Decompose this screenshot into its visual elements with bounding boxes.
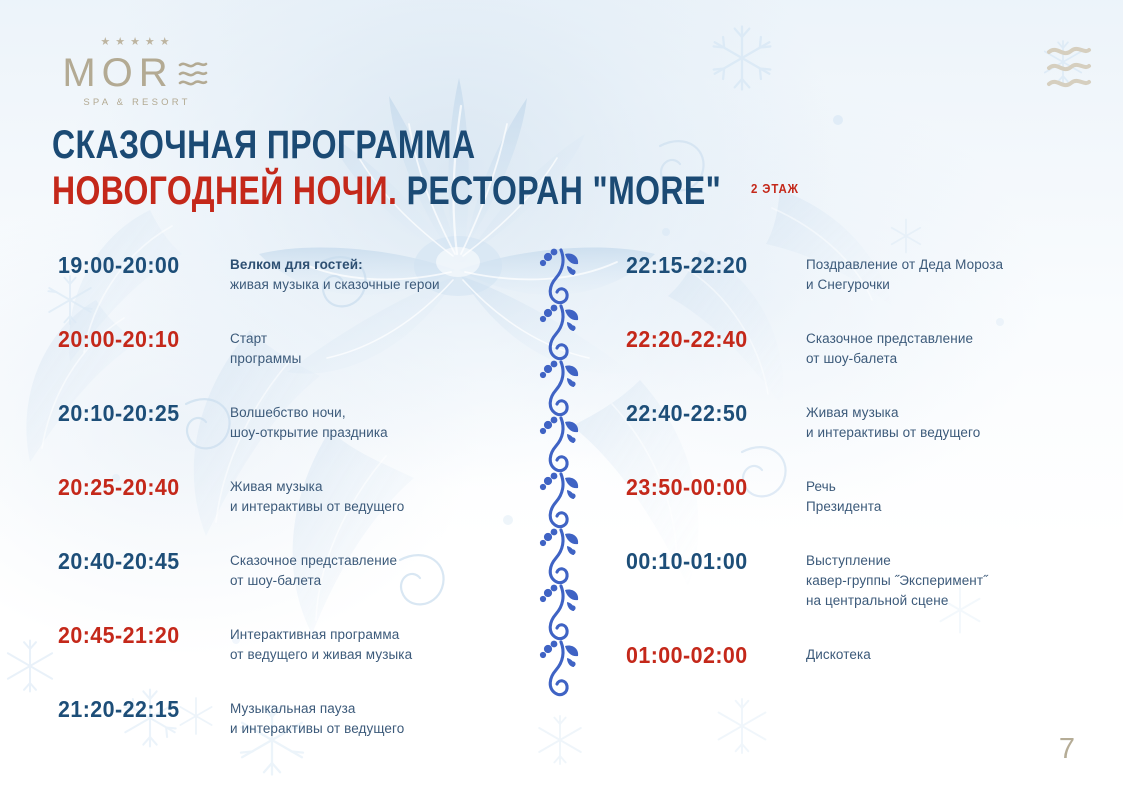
schedule-description-line: Интерактивная программа	[230, 625, 488, 645]
schedule-time: 20:00-20:10	[58, 326, 218, 352]
schedule-description-line: на центральной сцене	[806, 591, 1066, 611]
floor-badge: 2 ЭТАЖ	[751, 181, 799, 196]
schedule-time: 22:20-22:40	[626, 326, 793, 352]
schedule-time: 23:50-00:00	[626, 474, 793, 500]
wave-lines-icon	[1045, 42, 1093, 94]
schedule-description-line: Живая музыка	[806, 403, 1066, 423]
schedule-row: 20:45-21:20Интерактивная программаот вед…	[58, 622, 488, 665]
schedule-description-line: Старт	[230, 329, 488, 349]
title-line-2-blue: РЕСТОРАН "MORE"	[407, 169, 722, 213]
schedule-description-line: Музыкальная пауза	[230, 699, 488, 719]
schedule-row: 20:25-20:40Живая музыкаи интерактивы от …	[58, 474, 488, 517]
schedule-description-line: Речь	[806, 477, 1066, 497]
schedule-description: Сказочное представлениеот шоу-балета	[806, 326, 1066, 369]
wave-lines-icon	[178, 58, 208, 90]
title-line-2-red: НОВОГОДНЕЙ НОЧИ.	[52, 169, 397, 213]
schedule-description: Дискотека	[806, 642, 1066, 665]
schedule-description: Стартпрограммы	[230, 326, 488, 369]
schedule-description: Выступлениекавер-группы ˝Эксперимент˝на …	[806, 548, 1066, 611]
logo-wordmark: MOR	[62, 51, 173, 95]
schedule-description: Живая музыкаи интерактивы от ведущего	[806, 400, 1066, 443]
schedule-row: 23:50-00:00РечьПрезидента	[626, 474, 1066, 517]
schedule-description: РечьПрезидента	[806, 474, 1066, 517]
schedule-time: 00:10-01:00	[626, 548, 793, 574]
schedule-time: 22:15-22:20	[626, 252, 793, 278]
schedule-row: 19:00-20:00Велком для гостей:живая музык…	[58, 252, 488, 295]
schedule-description-line: программы	[230, 349, 488, 369]
schedule-row: 22:15-22:20Поздравление от Деда Морозаи …	[626, 252, 1066, 295]
schedule-row: 01:00-02:00Дискотека	[626, 642, 1066, 668]
schedule-description-line: Сказочное представление	[806, 329, 1066, 349]
schedule-description-line: Дискотека	[806, 645, 1066, 665]
gzhel-ornament-icon	[539, 248, 585, 700]
schedule-description-line: и интерактивы от ведущего	[230, 719, 488, 739]
schedule-description: Интерактивная программаот ведущего и жив…	[230, 622, 488, 665]
schedule-time: 20:40-20:45	[58, 548, 218, 574]
schedule-description-line: живая музыка и сказочные герои	[230, 275, 488, 295]
schedule-description: Велком для гостей:живая музыка и сказочн…	[230, 252, 488, 295]
floral-divider-ornament	[539, 248, 585, 700]
schedule-row: 22:40-22:50Живая музыкаи интерактивы от …	[626, 400, 1066, 443]
schedule-time: 20:45-21:20	[58, 622, 218, 648]
schedule-description-line: от ведущего и живая музыка	[230, 645, 488, 665]
schedule-description-line: Сказочное представление	[230, 551, 488, 571]
schedule-description: Поздравление от Деда Морозаи Снегурочки	[806, 252, 1066, 295]
schedule-description-line: и интерактивы от ведущего	[806, 423, 1066, 443]
schedule-right-column: 22:15-22:20Поздравление от Деда Морозаи …	[626, 252, 1066, 699]
schedule-description-line: кавер-группы ˝Эксперимент˝	[806, 571, 1066, 591]
title-line-2: НОВОГОДНЕЙ НОЧИ. РЕСТОРАН "MORE"	[52, 168, 708, 214]
schedule-description-line: Велком для гостей:	[230, 255, 488, 275]
page-number: 7	[1059, 733, 1076, 766]
schedule-description: Сказочное представлениеот шоу-балета	[230, 548, 488, 591]
schedule-description-line: от шоу-балета	[806, 349, 1066, 369]
schedule-row: 00:10-01:00Выступлениекавер-группы ˝Эксп…	[626, 548, 1066, 611]
schedule-time: 01:00-02:00	[626, 642, 793, 668]
schedule-description-line: Поздравление от Деда Мороза	[806, 255, 1066, 275]
title-line-1: СКАЗОЧНАЯ ПРОГРАММА	[52, 122, 708, 168]
schedule-description-line: и интерактивы от ведущего	[230, 497, 488, 517]
schedule-left-column: 19:00-20:00Велком для гостей:живая музык…	[58, 252, 488, 770]
logo-stars: ★★★★★	[60, 36, 210, 48]
schedule-row: 20:00-20:10Стартпрограммы	[58, 326, 488, 369]
schedule-description-line: от шоу-балета	[230, 571, 488, 591]
schedule-description-line: шоу-открытие праздника	[230, 423, 488, 443]
corner-wave-mark	[1045, 42, 1093, 99]
schedule-time: 21:20-22:15	[58, 696, 218, 722]
schedule-description-line: Выступление	[806, 551, 1066, 571]
schedule-time: 19:00-20:00	[58, 252, 218, 278]
schedule-description-line: Волшебство ночи,	[230, 403, 488, 423]
logo-mark: MOR	[60, 51, 210, 95]
schedule-description-line: Живая музыка	[230, 477, 488, 497]
schedule-row: 21:20-22:15Музыкальная паузаи интерактив…	[58, 696, 488, 739]
schedule-time: 22:40-22:50	[626, 400, 793, 426]
schedule-description: Живая музыкаи интерактивы от ведущего	[230, 474, 488, 517]
schedule-row: 20:40-20:45Сказочное представлениеот шоу…	[58, 548, 488, 591]
schedule-description: Волшебство ночи,шоу-открытие праздника	[230, 400, 488, 443]
slide-root: ★★★★★ MOR SPA & RESORT СКАЗОЧНАЯ ПРОГРАМ	[0, 0, 1123, 794]
schedule-time: 20:25-20:40	[58, 474, 218, 500]
schedule-description-line: и Снегурочки	[806, 275, 1066, 295]
page-title: СКАЗОЧНАЯ ПРОГРАММА НОВОГОДНЕЙ НОЧИ. РЕС…	[52, 122, 872, 214]
schedule-description: Музыкальная паузаи интерактивы от ведуще…	[230, 696, 488, 739]
schedule-description-line: Президента	[806, 497, 1066, 517]
brand-logo: ★★★★★ MOR SPA & RESORT	[60, 36, 210, 108]
schedule-time: 20:10-20:25	[58, 400, 218, 426]
logo-subtitle: SPA & RESORT	[60, 97, 210, 108]
schedule-row: 20:10-20:25Волшебство ночи,шоу-открытие …	[58, 400, 488, 443]
schedule-row: 22:20-22:40Сказочное представлениеот шоу…	[626, 326, 1066, 369]
